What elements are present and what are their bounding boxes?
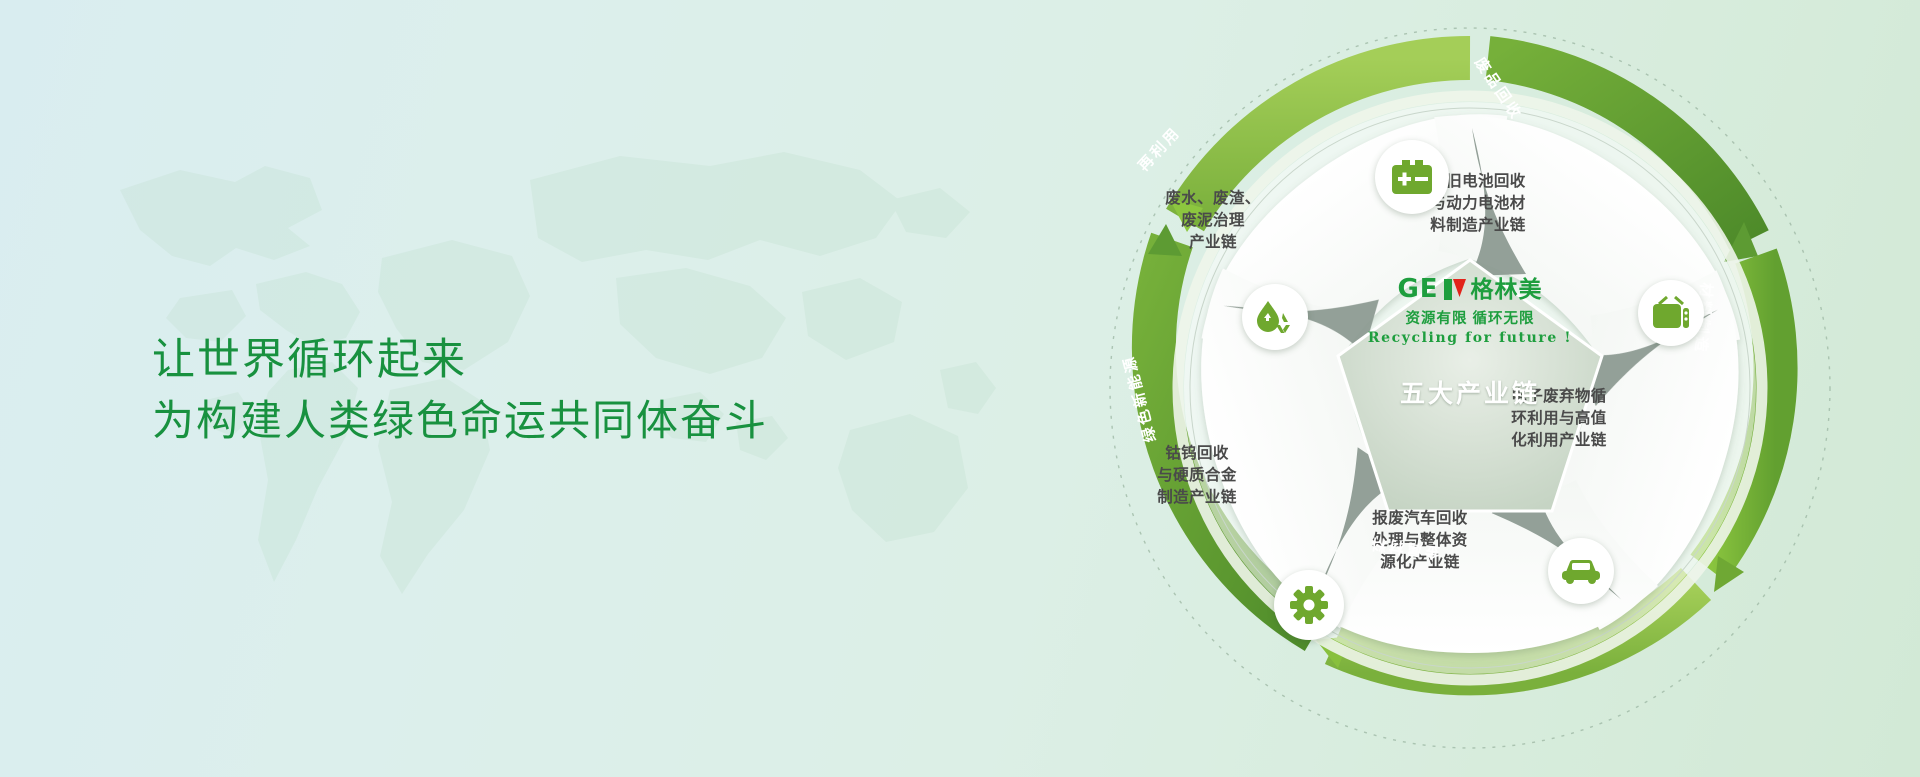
battery-icon	[1392, 160, 1432, 194]
petal-label-cobalt-tungsten: 钴钨回收 与硬质合金 制造产业链	[1122, 443, 1272, 509]
bubble-tv	[1638, 280, 1704, 346]
five-industry-chain-diagram: 废水、废渣、 废泥治理 产业链 废旧电池回收 与动力电池材 料制造产业链 电子废…	[1020, 8, 1920, 768]
center-caption: 五大产业链	[1355, 374, 1585, 410]
gem-triangle-mark	[1444, 279, 1466, 300]
brand-tagline-cn: 资源有限 循环无限	[1355, 307, 1585, 328]
hero-banner: 让世界循环起来 为构建人类绿色命运共同体奋斗	[0, 0, 1920, 777]
tv-icon	[1653, 296, 1689, 330]
recycle-drop-icon	[1256, 299, 1294, 335]
brand-cn: 格林美	[1471, 278, 1543, 301]
car-icon	[1562, 558, 1600, 584]
slogan-line-1: 让世界循环起来	[152, 330, 768, 391]
brand-tagline-en: Recycling for future !	[1355, 330, 1585, 346]
bubble-gear	[1274, 570, 1344, 640]
gear-icon	[1290, 586, 1328, 624]
brand-latin: GE	[1397, 276, 1438, 302]
slogan-line-2: 为构建人类绿色命运共同体奋斗	[152, 391, 768, 451]
bubble-battery	[1375, 140, 1449, 214]
center-logo-block: GE 格林美 资源有限 循环无限 Recycling for future ! …	[1355, 276, 1585, 410]
slogan-block: 让世界循环起来 为构建人类绿色命运共同体奋斗	[152, 330, 768, 451]
brand-lockup: GE 格林美	[1355, 276, 1585, 302]
petal-label-waste-water: 废水、废渣、 废泥治理 产业链	[1138, 188, 1288, 254]
bubble-car	[1548, 538, 1614, 604]
bubble-recycle-drop	[1242, 284, 1308, 350]
